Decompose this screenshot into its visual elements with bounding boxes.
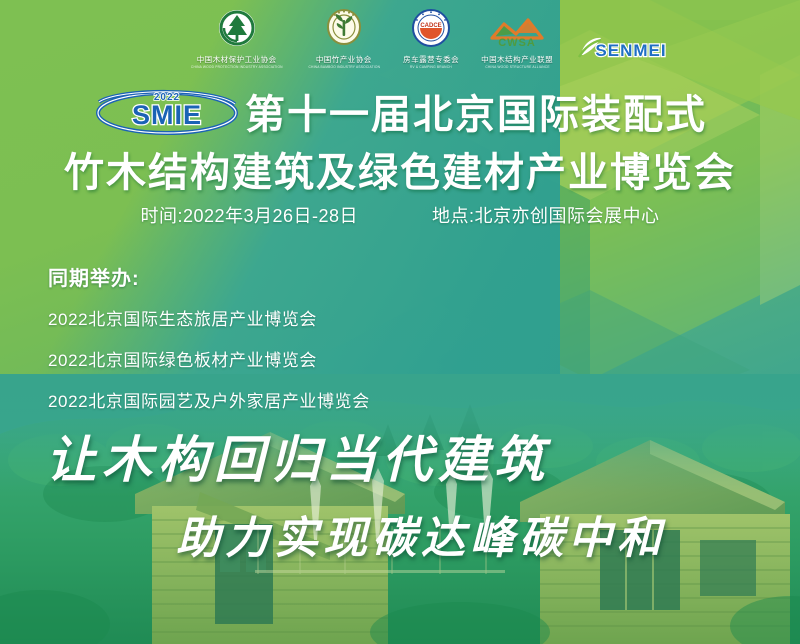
- senmei-leaf-icon: SENMEI: [575, 33, 671, 68]
- tree-shield-icon: [217, 8, 257, 53]
- title-line-1: 第十一届北京国际装配式: [245, 82, 707, 140]
- house-roof-icon: CWSA: [486, 12, 548, 53]
- title-block: 2022 SMIE 第十一届北京国际装配式 竹木结构建筑及绿色建材产业博览会: [0, 84, 800, 198]
- svg-text:CWSA: CWSA: [498, 37, 536, 48]
- cadce-badge-icon: CADCE: [411, 8, 451, 53]
- event-place: 地点:北京亦创国际会展中心: [432, 202, 660, 228]
- sponsor-name-cn: 中国竹产业协会: [316, 54, 372, 65]
- sponsor-name-en: CHINA WOOD STRUCTURE ALLIANCE: [485, 65, 549, 69]
- event-time: 时间:2022年3月26日-28日: [140, 202, 358, 228]
- concurrent-events: 同期举办: 2022北京国际生态旅居产业博览会 2022北京国际绿色板材产业博览…: [48, 262, 568, 428]
- sponsor-name-cn: 中国木材保护工业协会: [197, 54, 277, 65]
- event-meta: 时间:2022年3月26日-28日 地点:北京亦创国际会展中心: [0, 202, 800, 228]
- sponsor-name-en: CHINA WOOD PROTECTION INDUSTRY ASSOCIATI…: [191, 65, 283, 69]
- sponsor-logo-cwsa: CWSA 中国木结构产业联盟 CHINA WOOD STRUCTURE ALLI…: [481, 7, 553, 69]
- concurrent-item: 2022北京国际绿色板材产业博览会: [48, 346, 568, 371]
- svg-text:SENMEI: SENMEI: [596, 41, 667, 60]
- concurrent-heading: 同期举办:: [48, 262, 568, 291]
- sponsor-logo-strip: 中国木材保护工业协会 CHINA WOOD PROTECTION INDUSTR…: [0, 0, 800, 76]
- slogan-line-1: 让木构回归当代建筑: [46, 420, 800, 492]
- exhibition-poster: 中国木材保护工业协会 CHINA WOOD PROTECTION INDUSTR…: [0, 0, 800, 644]
- smie-logo: 2022 SMIE: [93, 86, 241, 136]
- sponsor-name-cn: 中国木结构产业联盟: [481, 54, 553, 65]
- bamboo-seal-icon: [325, 8, 363, 53]
- sponsor-name-cn: 房车露营专委会: [403, 54, 459, 65]
- concurrent-item: 2022北京国际生态旅居产业博览会: [48, 305, 568, 330]
- sponsor-logo-senmei: SENMEI: [575, 7, 671, 69]
- sponsor-logo-china-wood-protection: 中国木材保护工业协会 CHINA WOOD PROTECTION INDUSTR…: [189, 7, 285, 69]
- concurrent-item: 2022北京国际园艺及户外家居产业博览会: [48, 387, 568, 412]
- svg-text:CADCE: CADCE: [420, 23, 441, 29]
- slogan-line-2: 助力实现碳达峰碳中和: [176, 502, 800, 566]
- sponsor-logo-bamboo-industry: 中国竹产业协会 CHINA BAMBOO INDUSTRY ASSOCIATIO…: [307, 7, 382, 69]
- smie-wordmark: SMIE: [132, 100, 202, 130]
- sponsor-name-en: RV & CAMPING BRANCH: [410, 65, 452, 69]
- sponsor-name-en: CHINA BAMBOO INDUSTRY ASSOCIATION: [308, 65, 380, 69]
- title-line-2: 竹木结构建筑及绿色建材产业博览会: [0, 140, 800, 198]
- slogan-block: 让木构回归当代建筑 助力实现碳达峰碳中和: [0, 420, 800, 566]
- sponsor-logo-cadce: CADCE 房车露营专委会 RV & CAMPING BRANCH: [403, 7, 459, 69]
